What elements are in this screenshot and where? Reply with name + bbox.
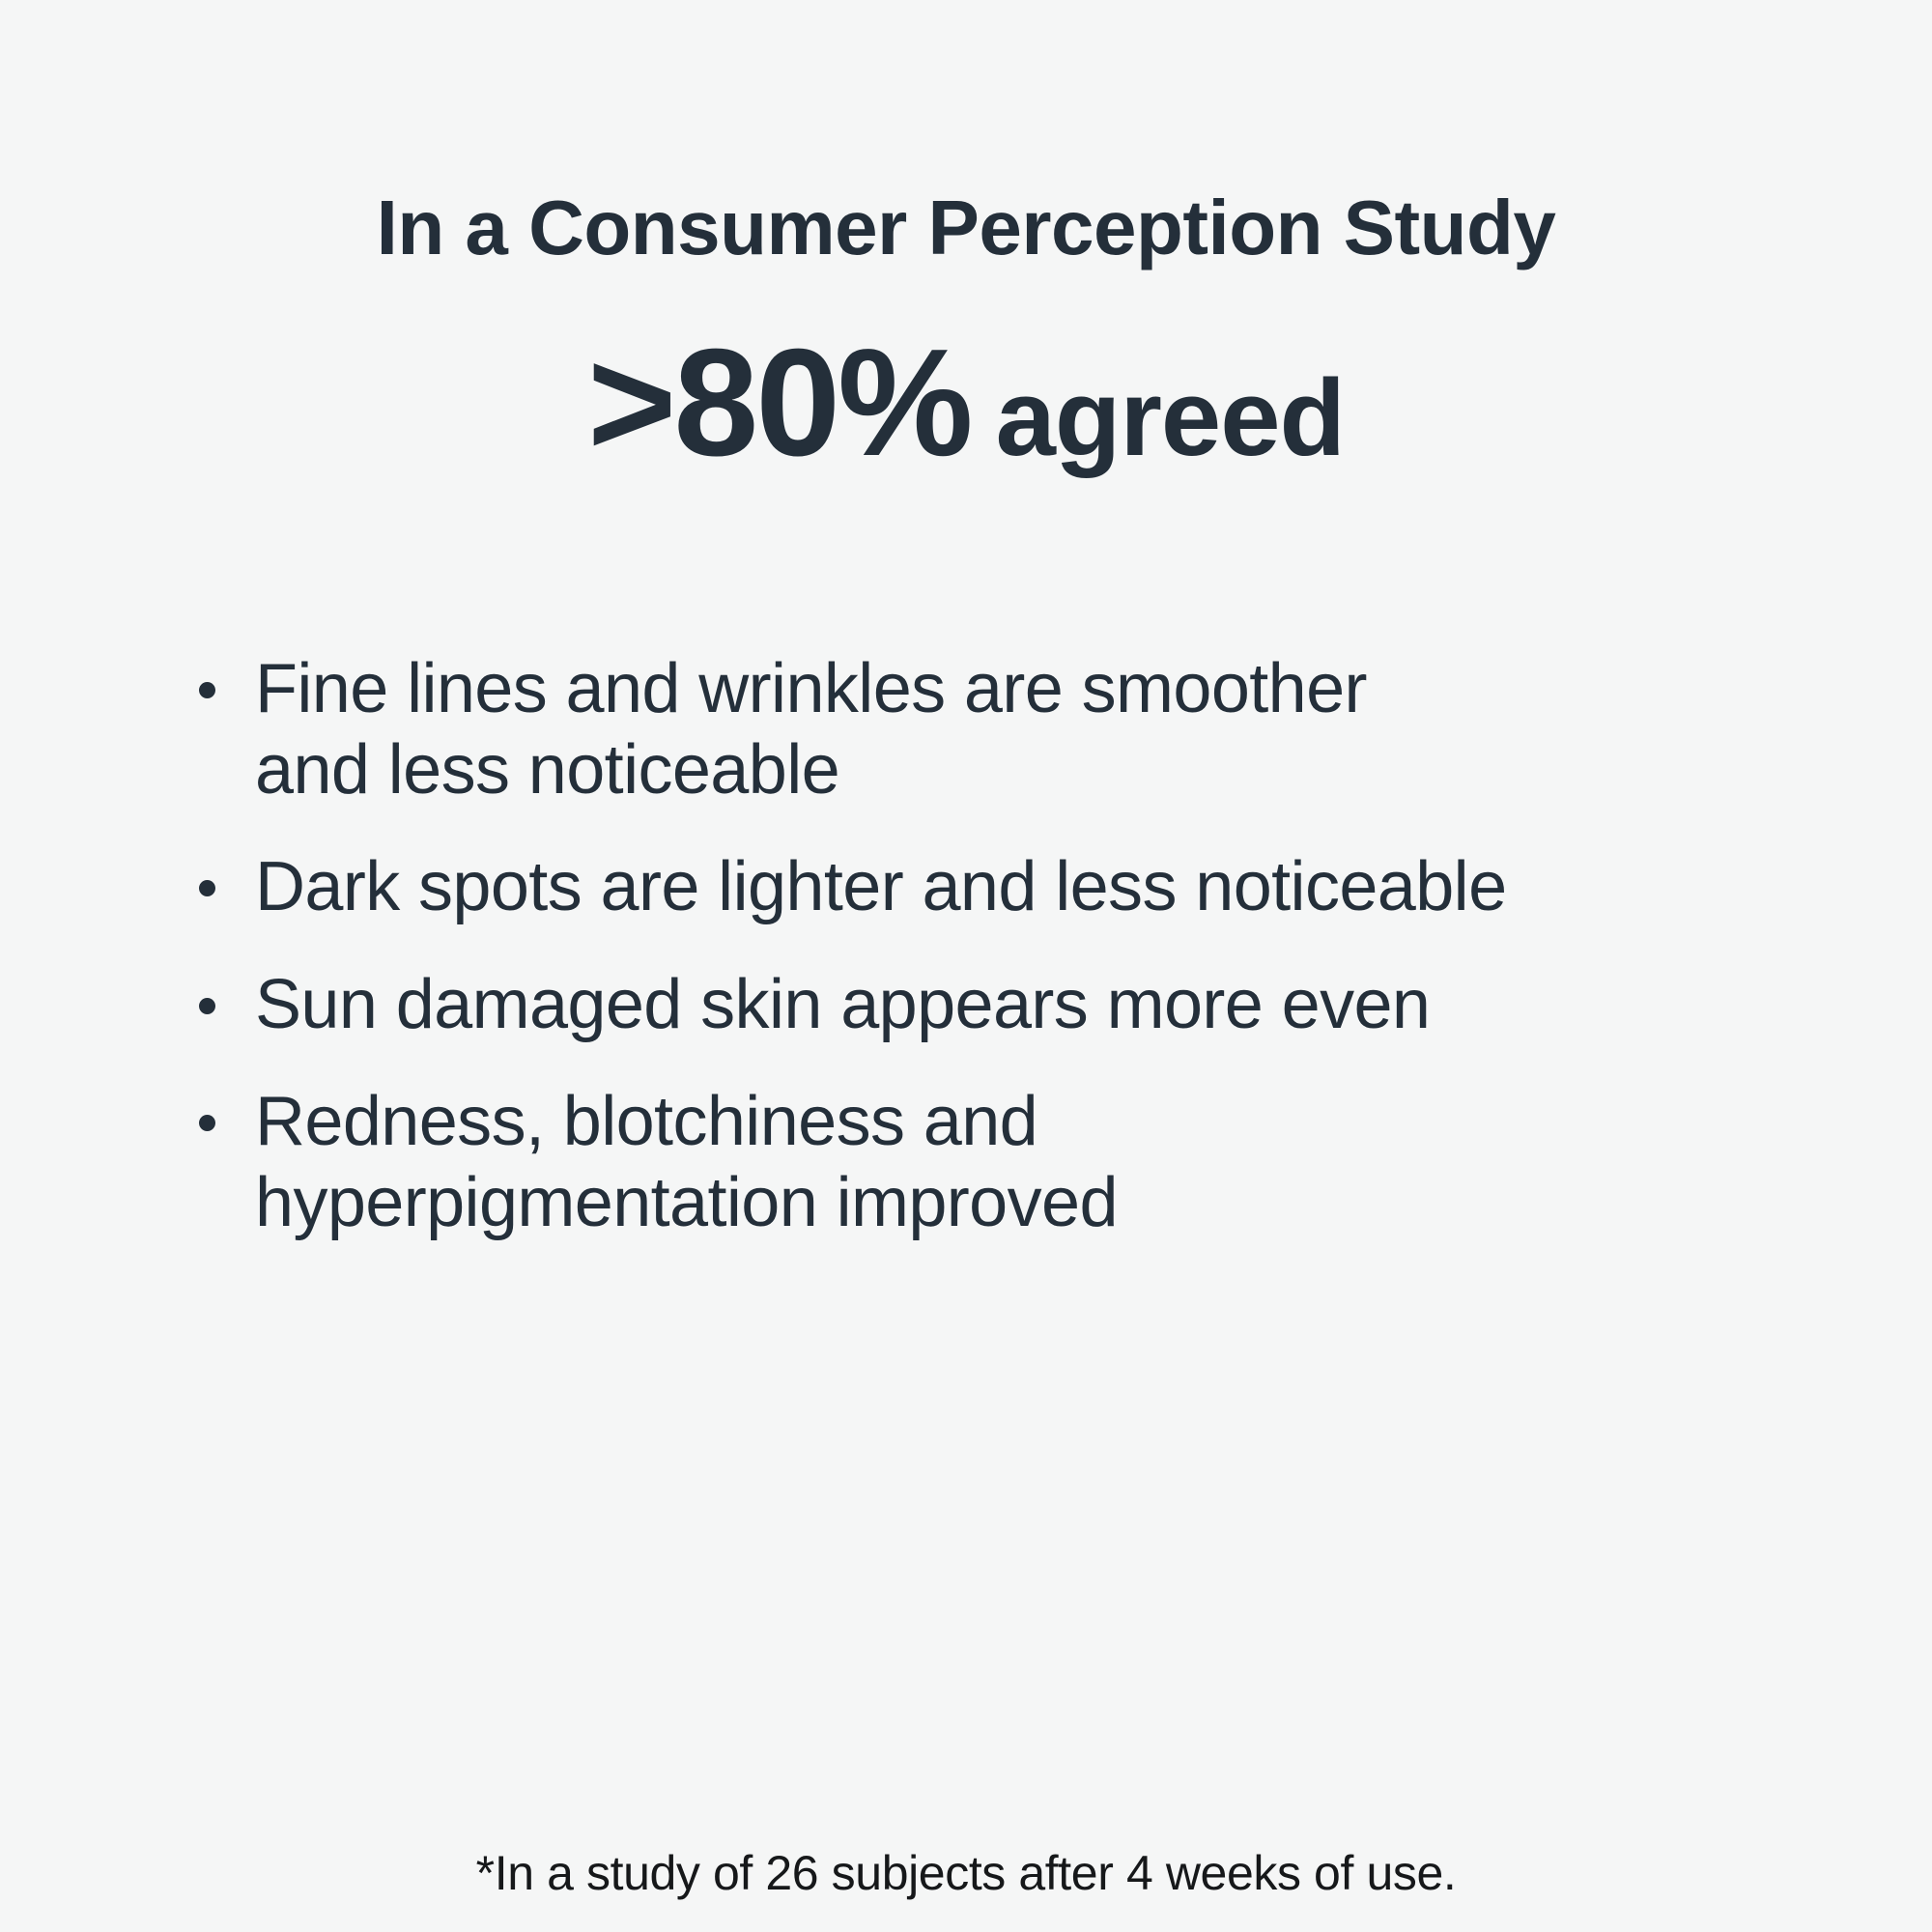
page-title: In a Consumer Perception Study [0,189,1932,267]
list-item-label: Sun damaged skin appears more even [255,965,1824,1046]
bullet-dot-icon [199,880,215,896]
list-item-label: Fine lines and wrinkles are smoother and… [255,649,1824,810]
list-item: Redness, blotchiness and hyperpigmentati… [191,1082,1824,1243]
headline-block: In a Consumer Perception Study >80%agree… [0,189,1932,479]
bullet-dot-icon [199,1115,215,1131]
list-item-label: Redness, blotchiness and hyperpigmentati… [255,1082,1824,1243]
list-item: Fine lines and wrinkles are smoother and… [191,649,1824,810]
stat-suffix-label: agreed [971,357,1345,478]
bullet-dot-icon [199,682,215,698]
stat-value: >80% [587,318,971,488]
list-item: Dark spots are lighter and less noticeab… [191,847,1824,928]
consumer-perception-study-card: In a Consumer Perception Study >80%agree… [0,0,1932,1932]
list-item-label: Dark spots are lighter and less noticeab… [255,847,1824,928]
bullet-dot-icon [199,998,215,1014]
list-item: Sun damaged skin appears more even [191,965,1824,1046]
claims-list: Fine lines and wrinkles are smoother and… [191,649,1824,1243]
stat-line: >80%agreed [0,327,1932,479]
footnote-disclaimer: *In a study of 26 subjects after 4 weeks… [0,1847,1932,1900]
